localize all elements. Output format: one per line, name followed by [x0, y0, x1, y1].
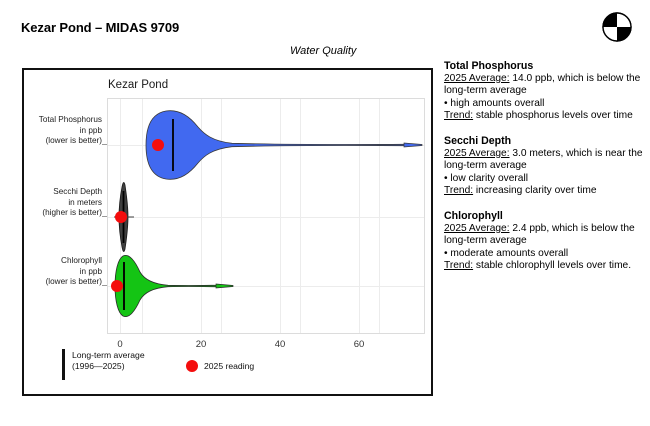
y-label-line3: (higher is better): [42, 208, 102, 217]
average-label: 2025 Average:: [444, 148, 510, 159]
y-label-secchi-depth: Secchi Depth in meters (higher is better…: [0, 187, 102, 219]
legend-line1: Long-term average: [72, 350, 145, 360]
section-trend: Trend: increasing clarity over time: [444, 185, 644, 198]
summary-panel: Total Phosphorus 2025 Average: 14.0 ppb,…: [444, 60, 644, 285]
trend-text: stable phosphorus levels over time: [473, 110, 633, 121]
section-average: 2025 Average: 3.0 meters, which is near …: [444, 148, 644, 173]
violin-shapes: [108, 99, 426, 335]
chart-subtitle: Water Quality: [290, 45, 356, 57]
x-tick-label: 60: [354, 339, 365, 350]
long-term-average-label: Long-term average (1996—2025): [72, 350, 145, 372]
section-trend: Trend: stable chlorophyll levels over ti…: [444, 260, 644, 273]
y-label-line1: Secchi Depth: [53, 187, 102, 196]
legend-line2: (1996—2025): [72, 361, 125, 371]
reading-dot-secchi-depth: [115, 211, 127, 223]
trend-label: Trend:: [444, 110, 473, 121]
summary-section-total-phosphorus: Total Phosphorus 2025 Average: 14.0 ppb,…: [444, 60, 644, 123]
trend-label: Trend:: [444, 260, 473, 271]
y-label-line1: Chlorophyll: [61, 256, 102, 265]
trend-label: Trend:: [444, 185, 473, 196]
bullet-text: moderate amounts overall: [450, 248, 568, 259]
section-heading: Chlorophyll: [444, 210, 644, 223]
summary-section-chlorophyll: Chlorophyll 2025 Average: 2.4 ppb, which…: [444, 210, 644, 273]
violin-chlorophyll: [115, 255, 233, 316]
violin-plot-area: 0 20 40 60: [107, 98, 425, 334]
reading-dot-chlorophyll: [111, 280, 123, 292]
y-label-chlorophyll: Chlorophyll in ppb (lower is better): [0, 256, 102, 288]
trend-text: increasing clarity over time: [473, 185, 596, 196]
y-label-line1: Total Phosphorus: [39, 115, 102, 124]
section-bullet: • low clarity overall: [444, 173, 644, 186]
section-bullet: • moderate amounts overall: [444, 248, 644, 261]
chart-title: Kezar Pond: [108, 79, 168, 91]
reading-legend-label: 2025 reading: [204, 361, 254, 371]
page-title: Kezar Pond – MIDAS 9709: [21, 20, 179, 35]
average-label: 2025 Average:: [444, 73, 510, 84]
y-label-line2: in meters: [68, 198, 102, 207]
y-label-total-phosphorus: Total Phosphorus in ppb (lower is better…: [0, 115, 102, 147]
section-average: 2025 Average: 2.4 ppb, which is below th…: [444, 223, 644, 248]
secchi-disk-icon: [602, 12, 632, 42]
reading-dot-total-phosphorus: [152, 139, 164, 151]
reading-dot-swatch: [186, 360, 198, 372]
chart-legend: Long-term average (1996—2025) 2025 readi…: [62, 347, 292, 383]
violin-total-phosphorus: [146, 111, 422, 180]
y-label-line2: in ppb: [80, 267, 102, 276]
average-label: 2025 Average:: [444, 223, 510, 234]
section-heading: Secchi Depth: [444, 135, 644, 148]
y-label-line2: in ppb: [80, 126, 102, 135]
section-heading: Total Phosphorus: [444, 60, 644, 73]
bullet-text: high amounts overall: [450, 98, 544, 109]
y-label-line3: (lower is better): [46, 136, 102, 145]
chart-card: Kezar Pond Total Phosphorus in ppb (lowe…: [22, 68, 433, 396]
y-label-line3: (lower is better): [46, 277, 102, 286]
summary-section-secchi-depth: Secchi Depth 2025 Average: 3.0 meters, w…: [444, 135, 644, 198]
long-term-average-line-swatch: [62, 349, 65, 380]
section-average: 2025 Average: 14.0 ppb, which is below t…: [444, 73, 644, 98]
trend-text: stable chlorophyll levels over time.: [473, 260, 631, 271]
bullet-text: low clarity overall: [450, 173, 528, 184]
section-bullet: • high amounts overall: [444, 98, 644, 111]
section-trend: Trend: stable phosphorus levels over tim…: [444, 110, 644, 123]
